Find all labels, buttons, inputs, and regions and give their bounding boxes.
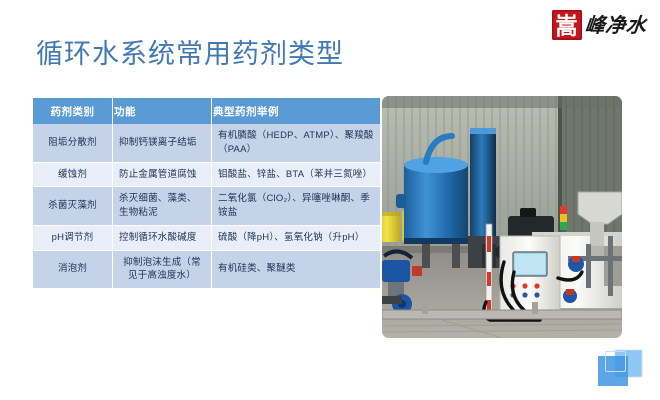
- table-row: pH调节剂 控制循环水酸碱度 硫酸（降pH）、氢氧化钠（升pH）: [33, 225, 380, 250]
- cell-examples: 有机膦酸（HEDP、ATMP）、聚羧酸（PAA）: [212, 124, 381, 162]
- cell-function: 抑制泡沫生成（常见于高浊度水）: [113, 250, 212, 288]
- cell-category: 消泡剂: [33, 250, 113, 288]
- cell-examples: 钼酸盐、锌盐、BTA（苯并三氮唑）: [212, 162, 381, 187]
- page-title: 循环水系统常用药剂类型: [36, 32, 344, 71]
- square-motif-decoration: [596, 346, 642, 386]
- cell-category: 杀菌灭藻剂: [33, 187, 113, 226]
- blue-duct: [470, 128, 500, 254]
- level-gauge: [486, 224, 492, 312]
- cell-category: 缓蚀剂: [33, 162, 113, 187]
- chemicals-table: 药剂类别 功能 典型药剂举例 阻垢分散剂 抑制钙镁离子结垢 有机膦酸（HEDP、…: [33, 98, 372, 288]
- slide: 嵩 峰净水 循环水系统常用药剂类型 药剂类别 功能 典型药剂举例 阻垢分散剂 抑…: [0, 0, 660, 400]
- cell-function: 抑制钙镁离子结垢: [113, 124, 212, 162]
- cell-examples: 有机硅类、聚醚类: [212, 250, 381, 288]
- control-cabinet: [500, 236, 560, 312]
- table-body: 阻垢分散剂 抑制钙镁离子结垢 有机膦酸（HEDP、ATMP）、聚羧酸（PAA） …: [33, 124, 380, 288]
- cell-examples: 硫酸（降pH）、氢氧化钠（升pH）: [212, 225, 381, 250]
- logo-wordmark: 峰净水: [583, 15, 647, 35]
- seal-character: 嵩: [555, 13, 577, 36]
- column-header-function: 功能: [113, 98, 212, 124]
- table-row: 消泡剂 抑制泡沫生成（常见于高浊度水） 有机硅类、聚醚类: [33, 250, 380, 288]
- column-header-examples: 典型药剂举例: [212, 98, 381, 124]
- table-header-row: 药剂类别 功能 典型药剂举例: [33, 98, 380, 124]
- equipment-photo-illustration: [382, 96, 622, 338]
- cell-function: 防止金属管道腐蚀: [113, 162, 212, 187]
- table-row: 阻垢分散剂 抑制钙镁离子结垢 有机膦酸（HEDP、ATMP）、聚羧酸（PAA）: [33, 124, 380, 162]
- square-outline: [605, 351, 626, 372]
- cell-function: 杀灭细菌、藻类、生物粘泥: [113, 187, 212, 226]
- seal-icon: 嵩: [552, 10, 582, 40]
- cell-examples: 二氧化氯（ClO₂）、异噻唑啉酮、季铵盐: [212, 187, 381, 226]
- cell-category: pH调节剂: [33, 225, 113, 250]
- company-logo: 嵩 峰净水: [552, 8, 647, 42]
- table-row: 缓蚀剂 防止金属管道腐蚀 钼酸盐、锌盐、BTA（苯并三氮唑）: [33, 162, 380, 187]
- column-header-category: 药剂类别: [33, 98, 113, 124]
- table-row: 杀菌灭藻剂 杀灭细菌、藻类、生物粘泥 二氧化氯（ClO₂）、异噻唑啉酮、季铵盐: [33, 187, 380, 226]
- cell-function: 控制循环水酸碱度: [113, 225, 212, 250]
- cell-category: 阻垢分散剂: [33, 124, 113, 162]
- equipment-photo: [382, 96, 622, 338]
